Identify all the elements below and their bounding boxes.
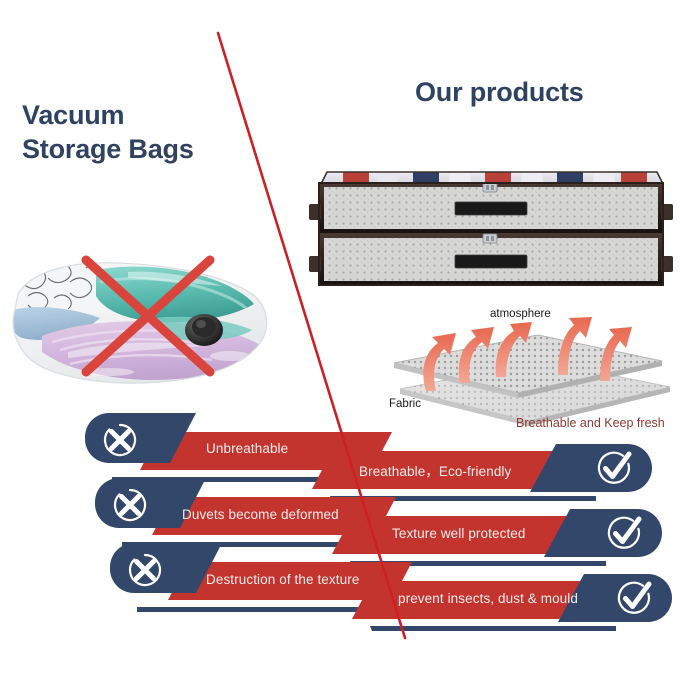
row-1-negative-label: Unbreathable [206, 441, 288, 456]
row-2-positive-label: Texture well protected [392, 526, 526, 541]
row-3-negative-label: Destruction of the texture [206, 572, 359, 587]
infographic-canvas: Vacuum Storage Bags Our products [0, 0, 680, 680]
row-3-positive-label: prevent insects, dust & mould [398, 591, 578, 606]
row-1-positive-label: Breathable，Eco-friendly [359, 460, 511, 480]
row-2-negative-label: Duvets become deformed [182, 507, 339, 522]
